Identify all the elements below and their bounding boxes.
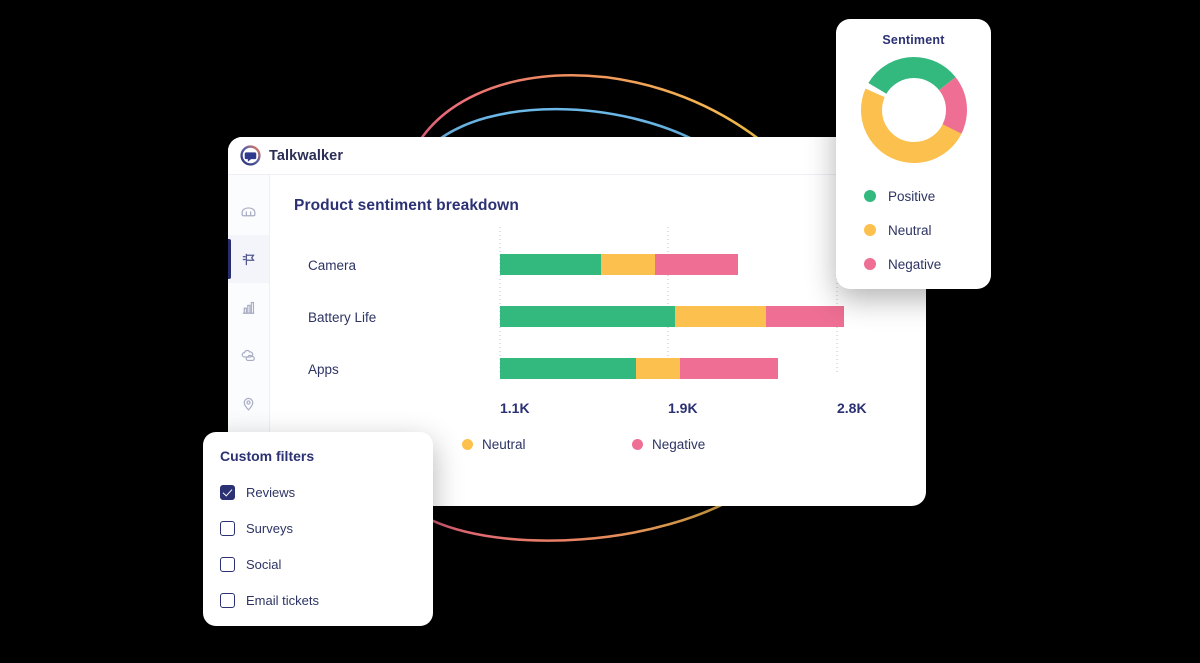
legend-dot-neutral: [462, 439, 473, 450]
legend-label: Negative: [888, 257, 941, 272]
filter-option-surveys[interactable]: Surveys: [220, 510, 433, 546]
sentiment-donut-chart[interactable]: [859, 55, 969, 165]
page-title: Product sentiment breakdown: [294, 197, 926, 215]
sidebar-item-inbox[interactable]: [228, 187, 269, 235]
checkbox-reviews[interactable]: [220, 485, 235, 500]
legend-dot-positive: [864, 190, 876, 202]
sidebar-item-locations[interactable]: [228, 379, 269, 427]
filter-label: Social: [246, 557, 281, 572]
arc-top-warm: [417, 75, 760, 145]
legend-label: Negative: [652, 437, 705, 452]
bar-chart-icon: [240, 299, 257, 316]
legend-item-neutral[interactable]: Neutral: [462, 437, 632, 452]
axis-tick-label: 2.8K: [837, 400, 867, 416]
bar-segment-neutral[interactable]: [675, 306, 766, 327]
brand-name: Talkwalker: [269, 148, 343, 164]
sentiment-legend-item-positive[interactable]: Positive: [864, 179, 991, 213]
sentiment-card: Sentiment Positive Neutral Ne: [836, 19, 991, 289]
chart-axis-tick-labels: 1.1K 1.9K 2.8K: [500, 400, 867, 416]
sidebar-item-social-listening[interactable]: [228, 331, 269, 379]
bar-segment-neutral[interactable]: [636, 358, 680, 379]
stacked-bar-chart-svg[interactable]: Camera Battery Life Apps: [294, 223, 924, 423]
checkbox-email-tickets[interactable]: [220, 593, 235, 608]
chart-category-labels: Camera Battery Life Apps: [308, 258, 376, 377]
checkbox-social[interactable]: [220, 557, 235, 572]
legend-item-negative[interactable]: Negative: [632, 437, 705, 452]
sentiment-card-title: Sentiment: [882, 33, 944, 47]
legend-label: Neutral: [888, 223, 932, 238]
sentiment-legend-item-neutral[interactable]: Neutral: [864, 213, 991, 247]
inbox-icon: [240, 203, 257, 220]
legend-label: Positive: [888, 189, 935, 204]
chart-gridlines: [500, 227, 837, 375]
sidebar-item-insights[interactable]: [228, 235, 269, 283]
legend-dot-neutral: [864, 224, 876, 236]
bar-row-battery-life[interactable]: [500, 306, 844, 327]
axis-tick-label: 1.1K: [500, 400, 530, 416]
legend-label: Neutral: [482, 437, 526, 452]
filter-label: Surveys: [246, 521, 293, 536]
category-label: Camera: [308, 258, 357, 273]
filter-option-email-tickets[interactable]: Email tickets: [220, 582, 433, 618]
bar-segment-neutral[interactable]: [601, 254, 655, 275]
bar-segment-positive[interactable]: [500, 358, 636, 379]
custom-filters-card: Custom filters Reviews Surveys Social Em…: [203, 432, 433, 626]
bar-segment-positive[interactable]: [500, 254, 601, 275]
location-pin-icon: [240, 395, 257, 412]
category-label: Battery Life: [308, 310, 376, 325]
filter-option-reviews[interactable]: Reviews: [220, 474, 433, 510]
talkwalker-logo-icon: [240, 145, 261, 166]
clouds-icon: [240, 347, 257, 364]
bar-row-apps[interactable]: [500, 358, 778, 379]
legend-dot-negative: [864, 258, 876, 270]
screenshot-root: Talkwalker: [0, 0, 1200, 663]
insights-flag-icon: [240, 251, 257, 268]
bar-segment-positive[interactable]: [500, 306, 675, 327]
sidebar-item-analytics[interactable]: [228, 283, 269, 331]
axis-tick-label: 1.9K: [668, 400, 698, 416]
bar-segment-negative[interactable]: [766, 306, 844, 327]
filter-label: Email tickets: [246, 593, 319, 608]
custom-filters-title: Custom filters: [220, 448, 433, 464]
bar-segment-negative[interactable]: [680, 358, 778, 379]
bar-segment-negative[interactable]: [655, 254, 738, 275]
bar-row-camera[interactable]: [500, 254, 738, 275]
sentiment-legend: Positive Neutral Negative: [836, 179, 991, 281]
category-label: Apps: [308, 362, 339, 377]
filter-option-social[interactable]: Social: [220, 546, 433, 582]
legend-dot-negative: [632, 439, 643, 450]
checkbox-surveys[interactable]: [220, 521, 235, 536]
app-header: Talkwalker: [228, 137, 926, 175]
sentiment-legend-item-negative[interactable]: Negative: [864, 247, 991, 281]
sentiment-breakdown-chart: Camera Battery Life Apps: [294, 223, 926, 452]
filter-label: Reviews: [246, 485, 295, 500]
